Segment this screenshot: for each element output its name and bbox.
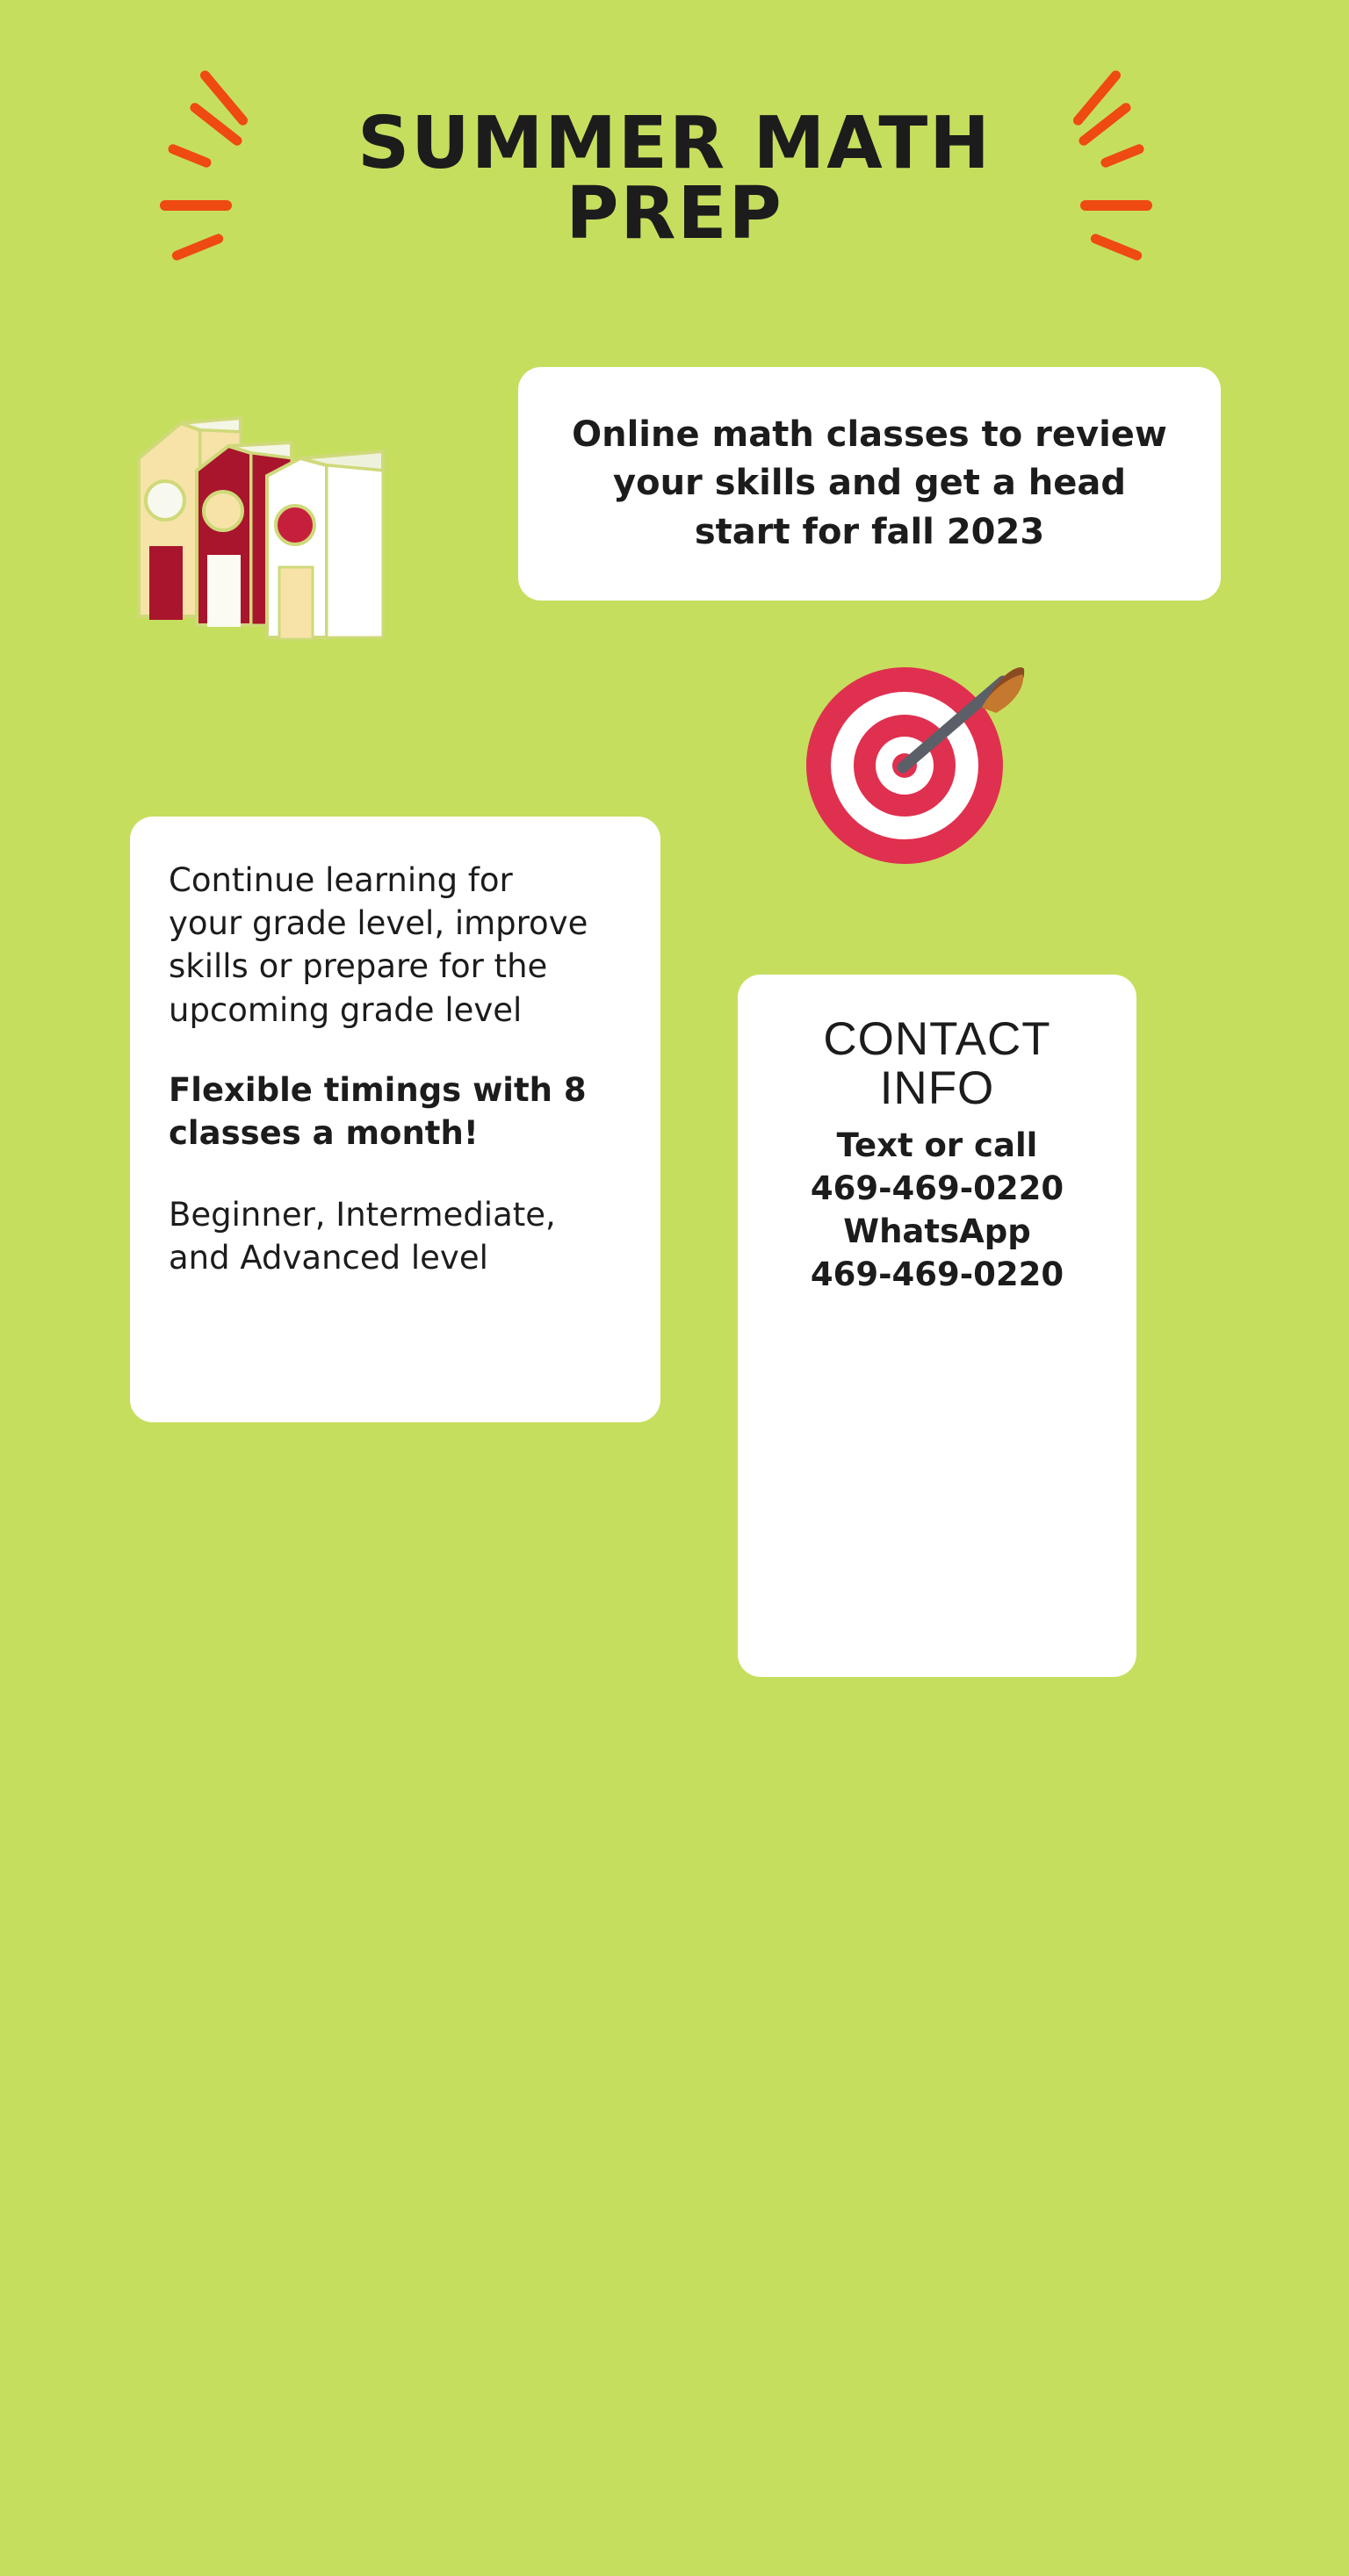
intro-card: Online math classes to review your skill… [518,367,1221,601]
details-paragraph-3: Beginner, Intermediate, and Advanced lev… [169,1193,622,1279]
contact-line-text-or-call: Text or call [759,1126,1115,1167]
details-paragraph-2: Flexible timings with 8 classes a month! [169,1069,622,1155]
contact-line-whatsapp: WhatsApp [759,1212,1115,1253]
intro-card-text: Online math classes to review your skill… [542,411,1197,557]
page-title-text: SUMMER MATH PREP [0,109,1349,250]
books-icon [119,378,400,641]
details-paragraph-1: Continue learning for your grade level, … [169,859,622,1032]
contact-heading: CONTACT INFO [759,1015,1115,1113]
details-card: Continue learning for your grade level, … [130,817,660,1422]
poster-canvas: SUMMER MATH PREP Online math classes to [0,0,1349,1798]
page-title: SUMMER MATH PREP [0,109,1349,250]
contact-whatsapp-number[interactable]: 469-469-0220 [759,1255,1115,1296]
contact-card: CONTACT INFO Text or call 469-469-0220 W… [738,975,1136,1677]
contact-phone-number[interactable]: 469-469-0220 [759,1169,1115,1210]
target-dartboard-icon [799,658,1028,869]
